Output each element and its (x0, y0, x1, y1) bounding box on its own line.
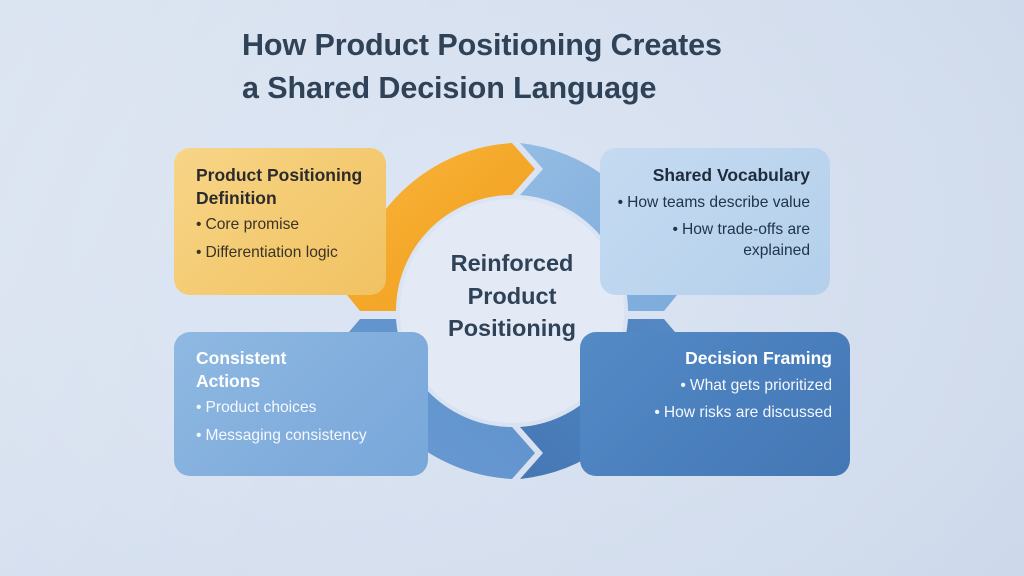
card-vocabulary-bullets: •How teams describe value •How trade-off… (614, 193, 810, 262)
card-definition-bullets: •Core promise •Differentiation logic (196, 215, 372, 263)
list-item: •Core promise (196, 215, 372, 236)
card-definition-heading-line-2: Definition (196, 187, 372, 210)
list-item: •How trade-offs are explained (614, 220, 810, 261)
list-item-label: Messaging consistency (205, 427, 366, 444)
list-item-label: How risks are discussed (664, 404, 832, 421)
card-vocabulary-heading: Shared Vocabulary (614, 164, 810, 187)
list-item: •Differentiation logic (196, 243, 372, 264)
list-item: •What gets prioritized (594, 376, 832, 397)
page-title-line-1: How Product Positioning Creates (242, 24, 842, 67)
list-item: •How teams describe value (614, 193, 810, 214)
page-title-line-2: a Shared Decision Language (242, 67, 842, 110)
card-decision-framing[interactable]: Decision Framing •What gets prioritized … (580, 332, 850, 476)
bullet-icon: • (196, 216, 201, 233)
list-item-label: Differentiation logic (205, 244, 337, 261)
page-title: How Product Positioning Creates a Shared… (242, 24, 842, 111)
bullet-icon: • (654, 404, 659, 421)
card-actions-heading: Consistent Actions (196, 347, 414, 392)
bullet-icon: • (196, 244, 201, 261)
diagram-canvas: How Product Positioning Creates a Shared… (0, 0, 1024, 576)
bullet-icon: • (196, 427, 201, 444)
bullet-icon: • (680, 377, 685, 394)
list-item-label: Core promise (205, 216, 299, 233)
bullet-icon: • (196, 399, 201, 416)
card-actions-heading-line-2: Actions (196, 370, 414, 393)
card-shared-vocabulary[interactable]: Shared Vocabulary •How teams describe va… (600, 148, 830, 295)
card-actions-bullets: •Product choices •Messaging consistency (196, 398, 414, 446)
bullet-icon: • (618, 194, 623, 211)
card-definition-heading: Product Positioning Definition (196, 164, 372, 209)
card-consistent-actions[interactable]: Consistent Actions •Product choices •Mes… (174, 332, 428, 476)
list-item: •Messaging consistency (196, 426, 414, 447)
list-item: •Product choices (196, 398, 414, 419)
list-item-label: What gets prioritized (690, 377, 832, 394)
card-definition-heading-line-1: Product Positioning (196, 165, 362, 185)
list-item-label: How trade-offs are explained (682, 221, 810, 259)
card-framing-bullets: •What gets prioritized •How risks are di… (594, 376, 832, 424)
list-item-label: How teams describe value (627, 194, 810, 211)
list-item: •How risks are discussed (594, 403, 832, 424)
card-actions-heading-line-1: Consistent (196, 348, 286, 368)
list-item-label: Product choices (205, 399, 316, 416)
card-framing-heading: Decision Framing (594, 347, 832, 370)
card-product-positioning-definition[interactable]: Product Positioning Definition •Core pro… (174, 148, 386, 295)
bullet-icon: • (673, 221, 678, 238)
